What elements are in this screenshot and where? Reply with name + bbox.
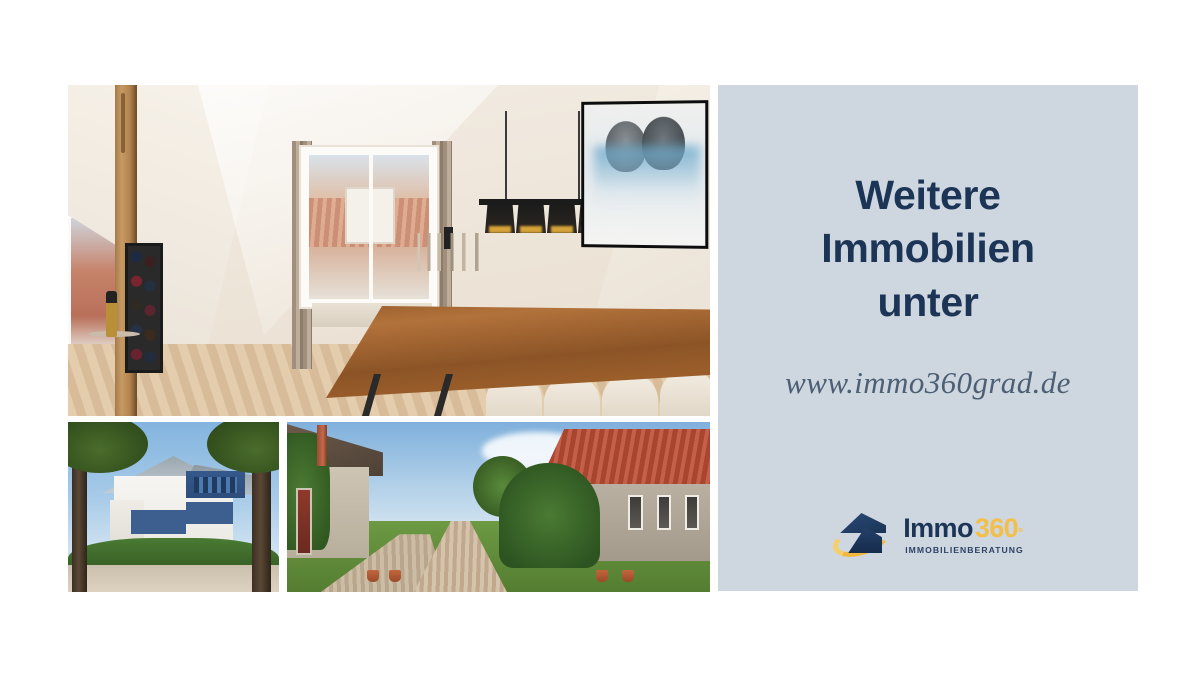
flower-pot-2 bbox=[389, 570, 401, 582]
brand-logo[interactable]: Immo 360 ° IMMOBILIENBERATUNG bbox=[718, 509, 1138, 557]
photo-white-villa[interactable] bbox=[68, 422, 279, 592]
headline-line-3: unter bbox=[763, 276, 1093, 329]
champagne-bottle bbox=[106, 291, 117, 337]
logo-subtitle: IMMOBILIENBERATUNG bbox=[905, 545, 1024, 555]
house-right-window-2 bbox=[657, 495, 671, 529]
dormer-window-main bbox=[301, 147, 437, 307]
house-left bbox=[287, 422, 465, 558]
house-roof-swoosh-icon bbox=[832, 509, 894, 557]
info-panel: Weitere Immobilien unter www.immo360grad… bbox=[718, 85, 1138, 591]
brick-chimney bbox=[317, 425, 327, 466]
red-wooden-door bbox=[298, 490, 310, 553]
villa-blue-panel-2 bbox=[186, 502, 232, 524]
headline-line-2: Immobilien bbox=[763, 222, 1093, 275]
page-title: Weitere Immobilien unter bbox=[763, 169, 1093, 329]
lamp-shade-3 bbox=[547, 205, 577, 233]
bottle-collection bbox=[413, 233, 485, 271]
logo-immo: Immo bbox=[903, 513, 973, 544]
logo-degree-symbol: ° bbox=[1018, 525, 1023, 540]
ivy-right bbox=[499, 463, 601, 568]
flower-pot-1 bbox=[367, 570, 379, 582]
artwork-blue-wash bbox=[594, 146, 701, 212]
photo-garden-courtyard[interactable] bbox=[287, 422, 710, 592]
logo-360: 360 bbox=[975, 513, 1018, 544]
photo-attic-dining-room[interactable] bbox=[68, 85, 710, 416]
lamp-cord-left bbox=[505, 111, 507, 199]
website-url[interactable]: www.immo360grad.de bbox=[785, 365, 1071, 401]
lamp-cord-right bbox=[578, 111, 580, 199]
flower-pot-3 bbox=[596, 570, 608, 582]
lamp-shade-2 bbox=[516, 205, 546, 233]
driveway bbox=[68, 565, 279, 592]
villa-blue-panel-1 bbox=[131, 510, 186, 534]
logo-wordmark: Immo 360 ° bbox=[903, 513, 1024, 544]
roof-shape bbox=[840, 513, 886, 533]
framed-artwork bbox=[581, 100, 708, 249]
logo-text-block: Immo 360 ° IMMOBILIENBERATUNG bbox=[903, 511, 1024, 555]
house-right-window-1 bbox=[685, 495, 699, 529]
lamp-shade-1 bbox=[485, 205, 515, 233]
window-mullion bbox=[369, 151, 373, 303]
artwork-canvas bbox=[584, 103, 705, 246]
slide-canvas: Weitere Immobilien unter www.immo360grad… bbox=[0, 0, 1200, 675]
flower-pot-4 bbox=[622, 570, 634, 582]
wine-rack bbox=[125, 243, 163, 373]
headline-line-1: Weitere bbox=[763, 169, 1093, 222]
house-right-window-3 bbox=[628, 495, 642, 529]
villa-blue-gable bbox=[186, 471, 245, 498]
